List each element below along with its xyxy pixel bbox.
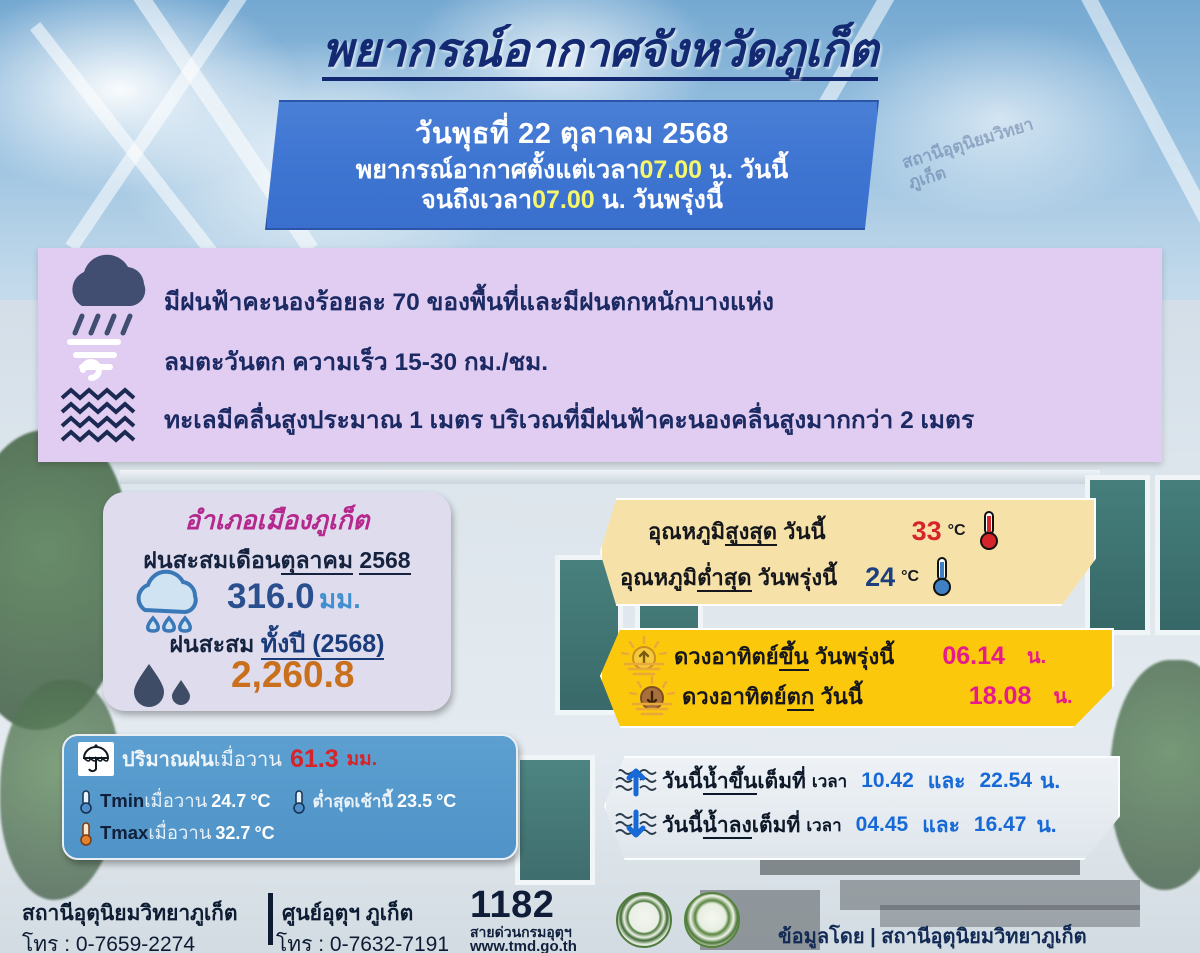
period-start-suffix: น. วันนี้ [702, 156, 788, 184]
period-start-time: 07.00 [640, 156, 703, 184]
yesterday-rain-label-main: ปริมาณฝน [122, 749, 214, 771]
thermometer-red-icon [976, 510, 1002, 552]
high-tide-label-u: น้ำขึ้น [703, 770, 758, 795]
sunset-row: ดวงอาทิตย์ตก วันนี้ 18.08 น. [626, 676, 1073, 716]
tmax-label-main: Tmax [100, 822, 148, 843]
sunrise-time: 06.14 [942, 642, 1005, 671]
page-title: พยากรณ์อากาศจังหวัดภูเก็ต [0, 12, 1200, 87]
forecast-wind-text: ลมตะวันตก ความเร็ว 15-30 กม./ชม. [164, 342, 548, 381]
thermometer-blue-icon [929, 556, 955, 598]
footer-center-tel: โทร : 0-7632-7191 [276, 928, 449, 953]
period-end-prefix: จนถึงเวลา [421, 186, 532, 214]
tmax-value: 32.7 [215, 823, 250, 844]
temp-max-value: 33 [912, 516, 942, 547]
footer-divider [268, 893, 273, 945]
low-tide-label: วันนี้น้ำลงเต็มที่ [662, 809, 800, 842]
low-tide-label-a: วันนี้ [662, 814, 703, 837]
tmin-label: Tminเมื่อวาน [100, 787, 207, 816]
high-tide-label: วันนี้น้ำขึ้นเต็มที่ [662, 765, 806, 798]
date-banner: วันพุธที่ 22 ตุลาคม 2568 พยากรณ์อากาศตั้… [265, 100, 879, 230]
thermometer-blue-small-icon-2 [289, 789, 309, 815]
high-tide-label-b: เต็มที่ [757, 770, 806, 793]
high-tide-unit: น. [1040, 765, 1060, 798]
low-tide-label-u: น้ำลง [703, 814, 752, 839]
high-tide-time-2: 22.54 [979, 769, 1032, 793]
monthly-rain-value: 316.0 [227, 577, 315, 616]
monthly-label-pre: ฝนสะสม [143, 547, 228, 573]
thermometer-orange-small-icon [76, 821, 96, 847]
footer-center-name: ศูนย์อุตุฯ ภูเก็ต [282, 897, 413, 930]
temp-min-label-u: ต่ำสุด [697, 565, 751, 592]
sunrise-icon [618, 636, 674, 676]
sunset-unit: น. [1053, 680, 1072, 712]
period-end-time: 07.00 [532, 186, 595, 214]
forecast-row-sea: ทะเลมีคลื่นสูงประมาณ 1 เมตร บริเวณที่มีฝ… [56, 388, 974, 450]
footer-website: www.tmd.go.th [470, 938, 577, 953]
sunset-icon [626, 676, 682, 716]
page-title-text: พยากรณ์อากาศจังหวัดภูเก็ต [322, 23, 878, 81]
sunrise-label-a: ดวงอาทิตย์ [674, 644, 779, 669]
water-drops-icon [125, 660, 205, 708]
tmax-unit: °C [254, 823, 274, 844]
tide-down-icon [614, 808, 662, 842]
monthly-rain-value-row: 316.0 มม. [227, 577, 361, 620]
temp-min-label: อุณหภูมิต่ำสุด วันพรุ่งนี้ [620, 560, 837, 595]
tide-panel: วันนี้น้ำขึ้นเต็มที่ เวลา 10.42 และ 22.5… [604, 756, 1120, 860]
high-tide-time-1: 10.42 [861, 769, 914, 793]
rain-accumulation-card: อำเภอเมืองภูเก็ต ฝนสะสมเดือนตุลาคม 2568 … [103, 492, 451, 711]
temp-min-unit: °C [901, 568, 919, 586]
yesterday-rain-unit: มม. [347, 744, 377, 774]
morning-min-unit: °C [436, 791, 456, 812]
monthly-label-year: 2568 [359, 547, 410, 575]
footer-credit: ข้อมูลโดย | สถานีอุตุนิยมวิทยาภูเก็ต [778, 920, 1087, 952]
low-tide-and: และ [922, 809, 960, 842]
sunrise-label-b: วันพรุ่งนี้ [809, 644, 895, 669]
forecast-rain-text: มีฝนฟ้าคะนองร้อยละ 70 ของพื้นที่และมีฝนต… [164, 282, 774, 321]
forecast-period-end: จนถึงเวลา07.00 น. วันพรุ่งนี้ [267, 186, 877, 216]
yesterday-rain-value: 61.3 [290, 745, 339, 774]
tmax-label: Tmaxเมื่อวาน [100, 819, 211, 848]
temp-max-unit: °C [948, 522, 966, 540]
morning-min-value: 23.5 [397, 791, 432, 812]
temperature-max-row: อุณหภูมิสูงสุด วันนี้ 33 °C [648, 510, 1002, 552]
emblem-tmd [616, 892, 672, 948]
yesterday-rain-row: ปริมาณฝนเมื่อวาน 61.3 มม. [78, 742, 377, 776]
footer-station-name: สถานีอุตุนิยมวิทยาภูเก็ต [22, 897, 238, 930]
temp-max-label-u: สูงสุด [725, 519, 777, 546]
temp-max-label-a: อุณหภูมิ [648, 519, 725, 544]
low-tide-time-1: 04.45 [856, 813, 909, 837]
temperature-panel: อุณหภูมิสูงสุด วันนี้ 33 °C อุณหภูมิต่ำส… [600, 498, 1096, 606]
footer-hotline-number: 1182 [470, 884, 554, 927]
forecast-sea-text: ทะเลมีคลื่นสูงประมาณ 1 เมตร บริเวณที่มีฝ… [164, 400, 974, 439]
tmin-unit: °C [250, 791, 270, 812]
low-tide-label-b: เต็มที่ [752, 814, 801, 837]
rain-cloud-icon [56, 260, 164, 342]
period-end-suffix: น. วันพรุ่งนี้ [595, 186, 723, 214]
morning-min-label: ต่ำสุดเช้านี้ [313, 788, 394, 815]
tmax-label-sub: เมื่อวาน [148, 822, 211, 843]
yearly-rain-value: 2,260.8 [231, 654, 354, 696]
forecast-row-wind: ลมตะวันตก ความเร็ว 15-30 กม./ชม. [56, 332, 548, 390]
yesterday-observations-card: ปริมาณฝนเมื่อวาน 61.3 มม. Tminเมื่อวาน 2… [62, 734, 518, 860]
sunrise-label-u: ขึ้น [779, 644, 809, 671]
temp-min-label-b: วันพรุ่งนี้ [752, 565, 838, 590]
umbrella-icon [78, 742, 114, 776]
emblem-ministry [684, 892, 740, 948]
sunrise-row: ดวงอาทิตย์ขึ้น วันพรุ่งนี้ 06.14 น. [618, 636, 1046, 676]
monthly-label-mid: เดือน [228, 547, 280, 573]
monthly-rain-unit: มม. [319, 584, 361, 614]
thermometer-blue-small-icon [76, 789, 96, 815]
high-tide-and: และ [928, 765, 966, 798]
tmin-label-sub: เมื่อวาน [144, 790, 207, 811]
tide-up-icon [614, 764, 662, 798]
sunrise-label: ดวงอาทิตย์ขึ้น วันพรุ่งนี้ [674, 639, 894, 674]
tmin-label-main: Tmin [100, 790, 144, 811]
high-tide-row: วันนี้น้ำขึ้นเต็มที่ เวลา 10.42 และ 22.5… [614, 764, 1060, 798]
waves-icon [56, 388, 164, 450]
forecast-panel: มีฝนฟ้าคะนองร้อยละ 70 ของพื้นที่และมีฝนต… [38, 248, 1162, 462]
low-tide-time-2: 16.47 [974, 813, 1027, 837]
yesterday-rain-label-sub: เมื่อวาน [214, 749, 282, 771]
sunset-label: ดวงอาทิตย์ตก วันนี้ [682, 679, 863, 714]
district-name: อำเภอเมืองภูเก็ต [103, 500, 451, 541]
forecast-period-start: พยากรณ์อากาศตั้งแต่เวลา07.00 น. วันนี้ [267, 156, 877, 186]
sunset-label-a: ดวงอาทิตย์ [682, 684, 787, 709]
sunset-label-b: วันนี้ [814, 684, 863, 709]
sunset-time: 18.08 [969, 682, 1032, 711]
low-tide-row: วันนี้น้ำลงเต็มที่ เวลา 04.45 และ 16.47 … [614, 808, 1057, 842]
temp-max-label-b: วันนี้ [777, 519, 826, 544]
yesterday-tmax-row: Tmaxเมื่อวาน 32.7 °C [76, 819, 275, 848]
infographic-canvas: สถานีอุตุนิยมวิทยาภูเก็ต พยากรณ์อากาศจัง… [0, 0, 1200, 953]
sunrise-unit: น. [1027, 640, 1046, 672]
monthly-label-month: ตุลาคม [281, 547, 354, 575]
footer-station-tel: โทร : 0-7659-2274 [22, 928, 195, 953]
date-line: วันพุธที่ 22 ตุลาคม 2568 [267, 110, 877, 156]
high-tide-time-word: เวลา [812, 768, 847, 795]
high-tide-label-a: วันนี้ [662, 770, 703, 793]
sunset-label-u: ตก [787, 684, 815, 711]
tmin-value: 24.7 [211, 791, 246, 812]
temp-min-value: 24 [865, 562, 895, 593]
low-tide-unit: น. [1036, 809, 1056, 842]
yesterday-rain-label: ปริมาณฝนเมื่อวาน [122, 743, 282, 775]
wind-icon [56, 332, 164, 390]
temperature-min-row: อุณหภูมิต่ำสุด วันพรุ่งนี้ 24 °C [620, 556, 955, 598]
temp-max-label: อุณหภูมิสูงสุด วันนี้ [648, 514, 826, 549]
period-start-prefix: พยากรณ์อากาศตั้งแต่เวลา [356, 156, 640, 184]
forecast-row-rain: มีฝนฟ้าคะนองร้อยละ 70 ของพื้นที่และมีฝนต… [56, 260, 774, 342]
temp-min-label-a: อุณหภูมิ [620, 565, 697, 590]
sun-panel: ดวงอาทิตย์ขึ้น วันพรุ่งนี้ 06.14 น. [600, 628, 1114, 728]
yesterday-tmin-row: Tminเมื่อวาน 24.7 °C ต่ำสุดเช้านี้ 23.5 … [76, 787, 456, 816]
low-tide-time-word: เวลา [806, 812, 841, 839]
